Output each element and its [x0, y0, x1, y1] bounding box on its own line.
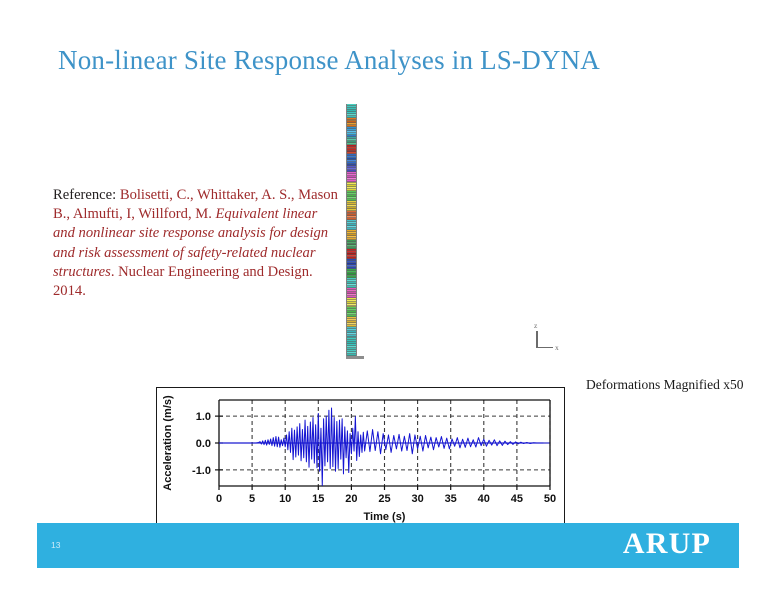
- x-tick-label: 50: [544, 493, 556, 505]
- acceleration-time-history-chart: 05101520253035404550-1.00.01.0Time (s)Ac…: [156, 387, 565, 525]
- deformations-caption: Deformations Magnified x50: [586, 377, 743, 393]
- x-tick-label: 20: [345, 493, 357, 505]
- x-tick-label: 35: [445, 493, 457, 505]
- axis-x-line: [536, 347, 553, 349]
- axis-x-label: x: [555, 343, 559, 352]
- page-title: Non-linear Site Response Analyses in LS-…: [58, 45, 738, 76]
- x-tick-label: 45: [511, 493, 523, 505]
- y-tick-label: 0.0: [196, 438, 211, 450]
- soil-column-model: [344, 104, 360, 356]
- y-tick-label: 1.0: [196, 411, 211, 423]
- x-tick-label: 5: [249, 493, 255, 505]
- chart-svg: 05101520253035404550-1.00.01.0Time (s)Ac…: [157, 388, 564, 524]
- x-axis-title: Time (s): [364, 511, 406, 523]
- x-tick-label: 0: [216, 493, 222, 505]
- x-tick-label: 10: [279, 493, 291, 505]
- x-tick-label: 30: [411, 493, 423, 505]
- page-number: 13: [51, 540, 60, 550]
- soil-column-base-plate: [346, 356, 364, 359]
- arup-logo: ARUP: [623, 527, 711, 561]
- footer-bar: 13 ARUP: [37, 523, 739, 568]
- x-tick-label: 15: [312, 493, 324, 505]
- axis-triad: z x: [531, 321, 565, 355]
- slide-canvas: Non-linear Site Response Analyses in LS-…: [0, 0, 776, 600]
- reference-label: Reference:: [53, 187, 116, 203]
- soil-layer-stack: [346, 104, 357, 356]
- y-axis-title: Acceleration (m/s): [162, 395, 174, 491]
- reference-text-block: Reference: Bolisetti, C., Whittaker, A. …: [53, 186, 338, 301]
- axis-z-line: [536, 331, 538, 348]
- axis-z-label: z: [534, 321, 537, 330]
- x-tick-label: 40: [478, 493, 490, 505]
- x-tick-label: 25: [378, 493, 390, 505]
- y-tick-label: -1.0: [192, 465, 211, 477]
